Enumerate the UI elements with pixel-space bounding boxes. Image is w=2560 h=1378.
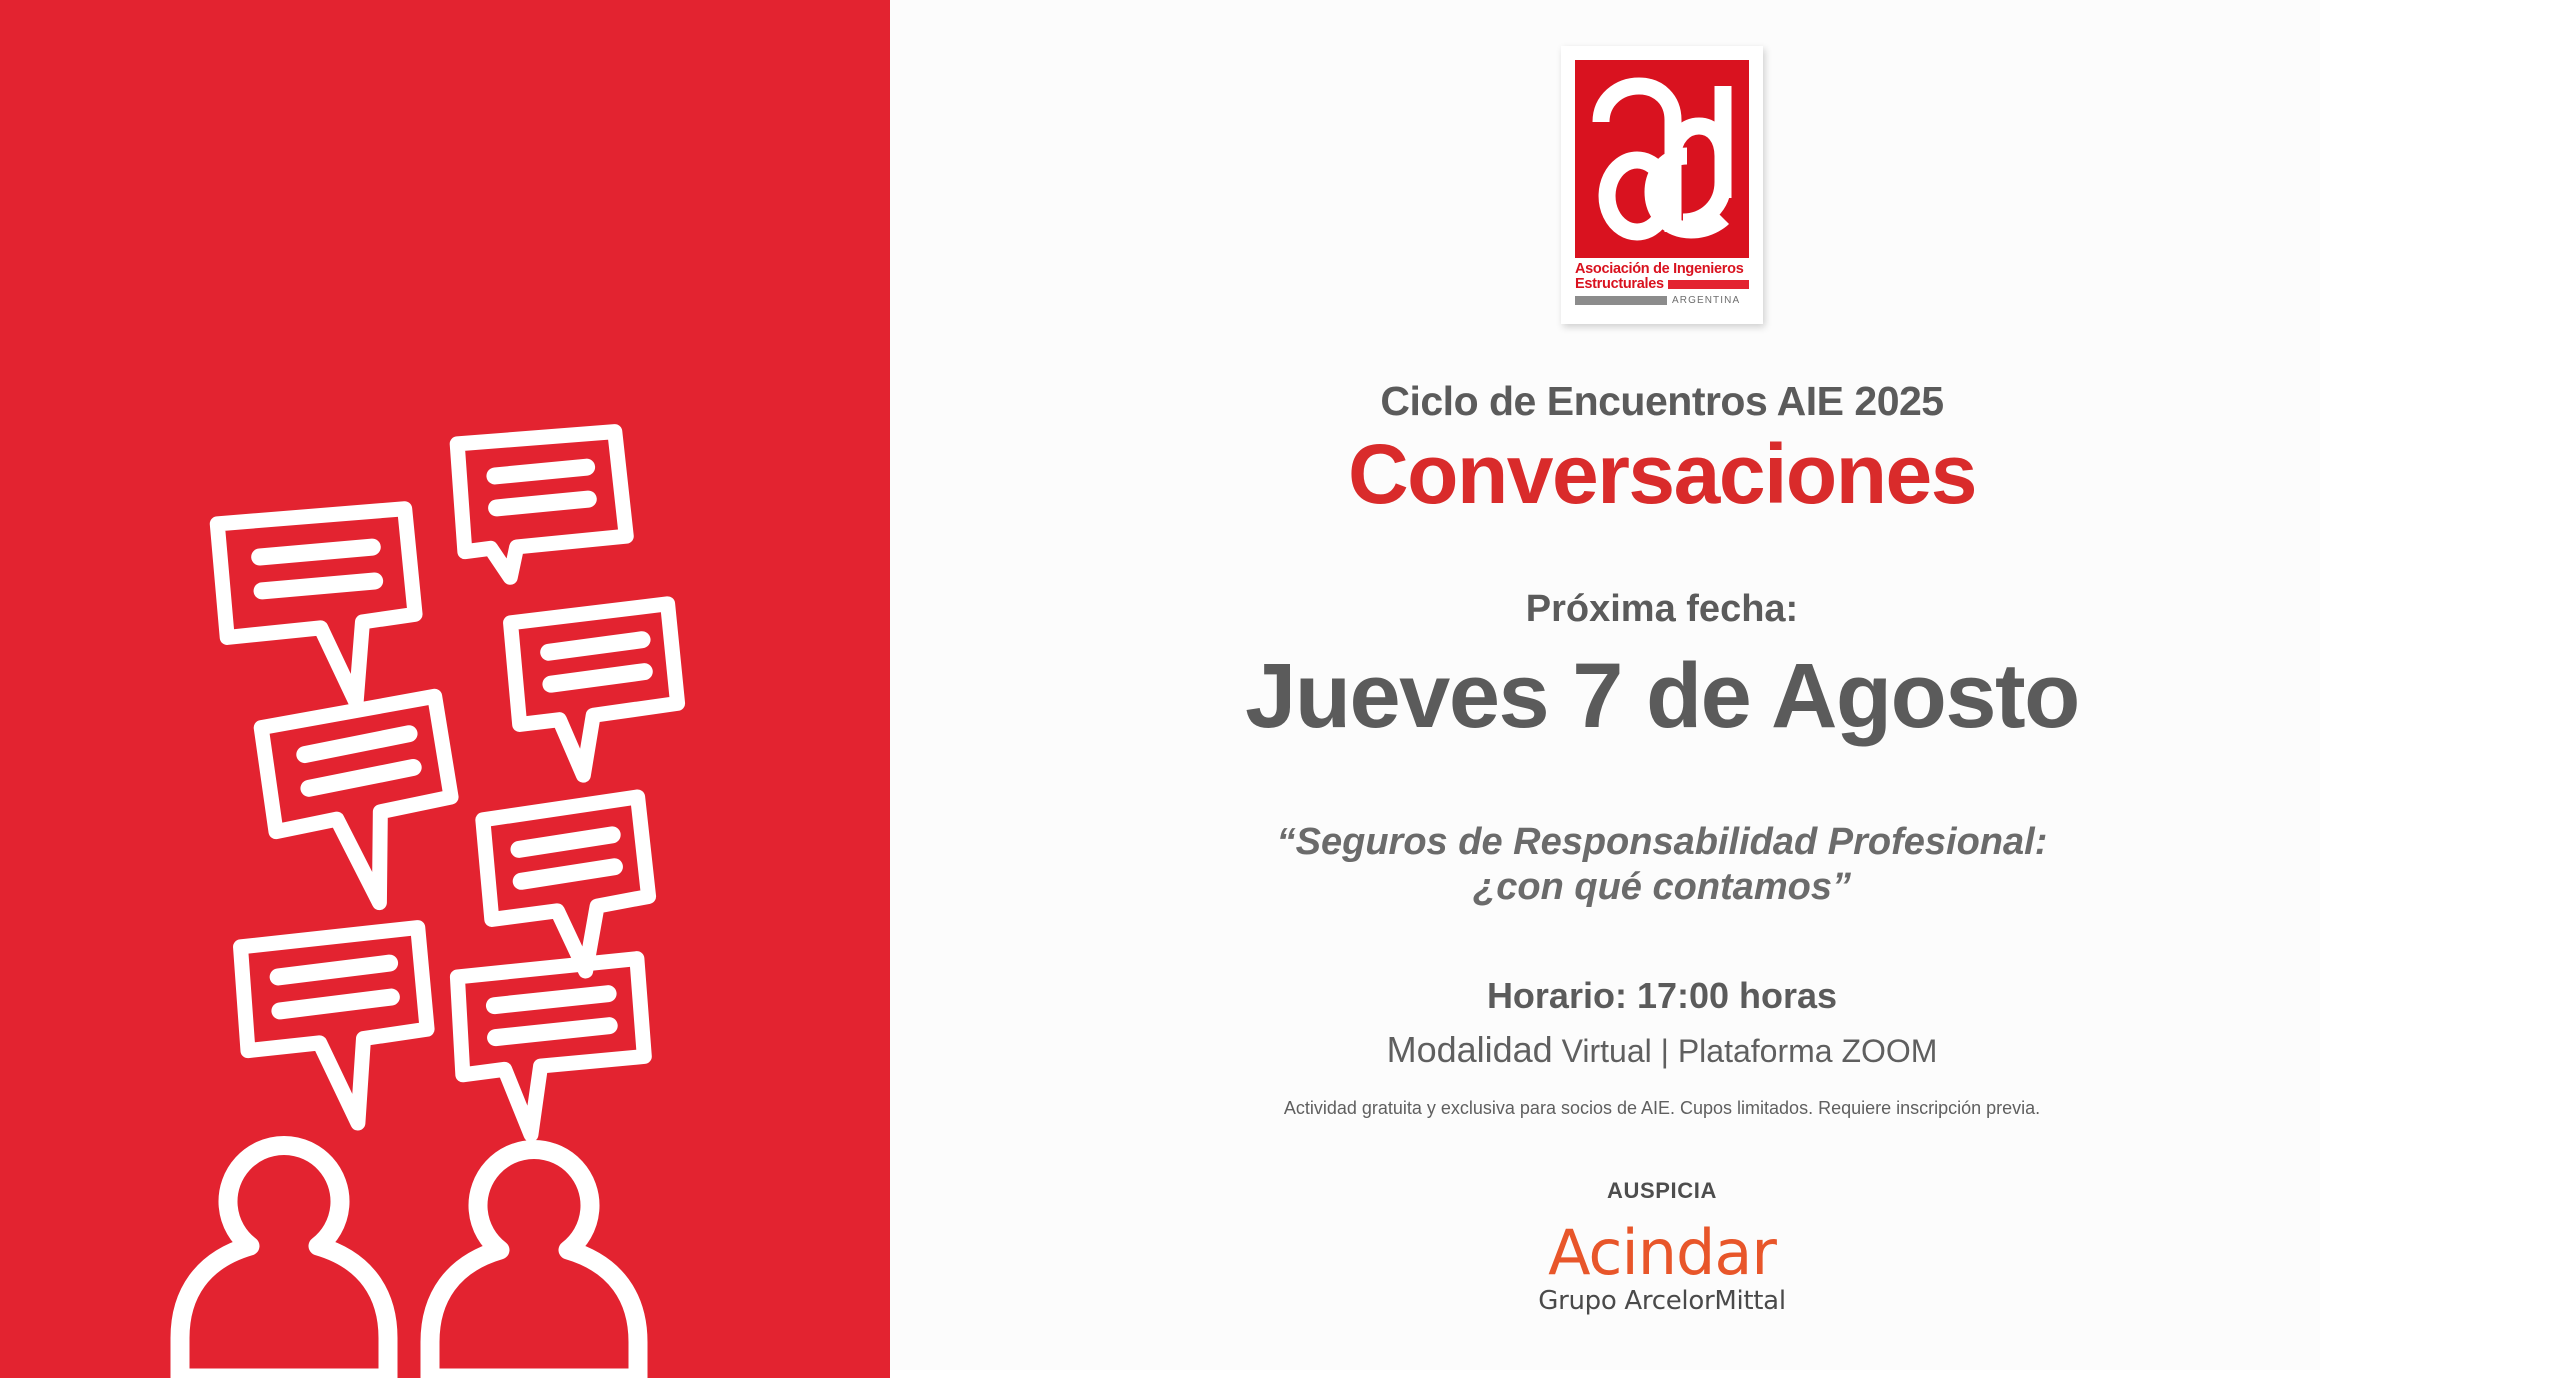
topic-title: “Seguros de Responsabilidad Profesional:… (1072, 820, 2252, 910)
logo-country: ARGENTINA (1672, 295, 1740, 306)
sponsor-label: AUSPICIA (1072, 1178, 2252, 1204)
logo-wordmark: Asociación de Ingenieros Estructurales A… (1575, 262, 1749, 306)
logo-line-1: Asociación de Ingenieros (1575, 262, 1749, 277)
red-illustration-panel (0, 0, 890, 1378)
logo-grey-bar (1575, 296, 1667, 305)
series-subtitle: Ciclo de Encuentros AIE 2025 (1072, 378, 2252, 425)
modality-value: Virtual | Plataforma ZOOM (1553, 1033, 1938, 1069)
logo-line-2-row: Estructurales (1575, 277, 1749, 292)
event-date: Jueves 7 de Agosto (1072, 648, 2252, 745)
topic-line-1: “Seguros de Responsabilidad Profesional: (1072, 820, 2252, 865)
speech-bubbles-illustration (0, 0, 890, 1378)
logo-line-2: Estructurales (1575, 277, 1664, 292)
logo-card: Asociación de Ingenieros Estructurales A… (1561, 46, 1763, 324)
sponsor-logo: Acindar Grupo ArcelorMittal (1072, 1222, 2252, 1316)
event-time: Horario: 17:00 horas (1072, 975, 2252, 1017)
next-date-label: Próxima fecha: (1072, 588, 2252, 631)
aie-logo: Asociación de Ingenieros Estructurales A… (1561, 46, 1763, 324)
topic-line-2: ¿con qué contamos” (1072, 865, 2252, 910)
people-icons (180, 1146, 638, 1378)
event-note: Actividad gratuita y exclusiva para soci… (1072, 1098, 2252, 1119)
sponsor-name: Acindar (1072, 1222, 2252, 1284)
modality-label: Modalidad (1387, 1029, 1553, 1070)
sponsor-subtitle: Grupo ArcelorMittal (1072, 1286, 2252, 1316)
logo-red-bar (1668, 280, 1749, 289)
content-column: Asociación de Ingenieros Estructurales A… (1072, 0, 2252, 1378)
aie-monogram-icon (1575, 60, 1749, 258)
poster-slide: Asociación de Ingenieros Estructurales A… (0, 0, 2560, 1378)
main-title: Conversaciones (1072, 432, 2252, 516)
event-modality: Modalidad Virtual | Plataforma ZOOM (1072, 1030, 2252, 1070)
logo-country-row: ARGENTINA (1575, 295, 1749, 306)
